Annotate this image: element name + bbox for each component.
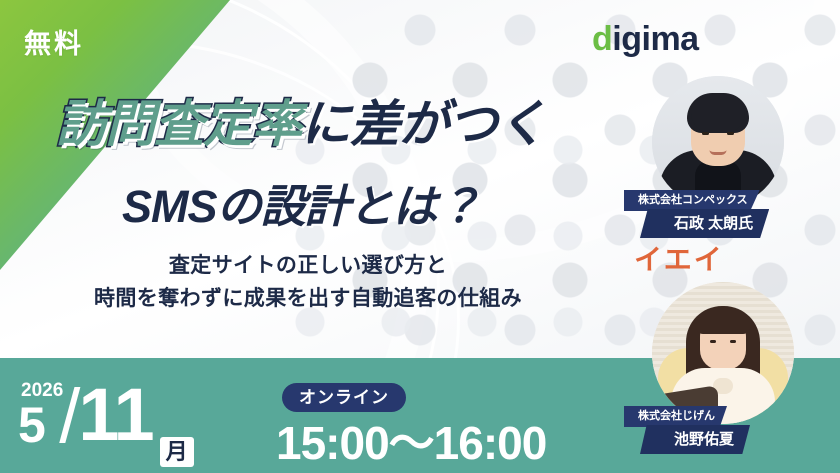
- iei-partner-logo: イエイ: [634, 246, 724, 274]
- date-separator: /: [59, 386, 80, 448]
- webinar-banner: 無料 digima 訪問査定率に差がつく SMSの設計とは？ 査定サイトの正しい…: [0, 0, 840, 473]
- free-badge: 無料: [24, 22, 84, 61]
- speaker-fringe: [696, 308, 750, 334]
- speaker-company: 株式会社じげん: [624, 406, 727, 427]
- speaker-name: 池野佑夏: [640, 425, 750, 454]
- digima-logo-accent-letter: d: [592, 20, 612, 58]
- speaker-photo-2: [652, 282, 794, 424]
- headline-accent-text: 訪問査定率: [56, 96, 301, 152]
- speaker-hair: [687, 93, 749, 133]
- speaker-nameplate-2: 株式会社じげん 池野佑夏: [624, 406, 750, 454]
- event-time-range: 15:00〜16:00: [276, 419, 546, 467]
- speaker-eye: [710, 340, 716, 343]
- event-year-month: 2026 5: [18, 381, 63, 450]
- subtitle: 査定サイトの正しい選び方と 時間を奪わずに成果を出す自動追客の仕組み: [0, 250, 616, 315]
- digima-logo-text: igima: [612, 20, 698, 58]
- speaker-company: 株式会社コンペックス: [624, 190, 760, 211]
- speaker-photo-1: [652, 76, 784, 208]
- subtitle-line-1: 査定サイトの正しい選び方と: [0, 250, 616, 283]
- headline-line-1: 訪問査定率に差がつく: [56, 99, 546, 149]
- format-badge: オンライン: [282, 383, 406, 412]
- speaker-eye: [727, 132, 734, 135]
- event-time-group: オンライン 15:00〜16:00: [276, 383, 546, 467]
- speaker-eye: [702, 132, 709, 135]
- subtitle-line-2: 時間を奪わずに成果を出す自動追客の仕組み: [0, 283, 616, 316]
- headline-plain-text: に差がつく: [301, 96, 546, 152]
- event-month: 5: [18, 402, 46, 450]
- speaker-name: 石政 太朗氏: [640, 209, 769, 238]
- speaker-mouth: [710, 150, 727, 155]
- speaker-eye: [730, 340, 736, 343]
- headline-line-2: SMSの設計とは？: [122, 184, 481, 229]
- event-date: 2026 5 / 11 月: [18, 358, 194, 473]
- event-day-of-week: 月: [160, 437, 194, 467]
- speaker-nameplate-1: 株式会社コンペックス 石政 太朗氏: [624, 190, 769, 238]
- event-day: 11: [78, 384, 152, 447]
- digima-logo: digima: [592, 22, 699, 56]
